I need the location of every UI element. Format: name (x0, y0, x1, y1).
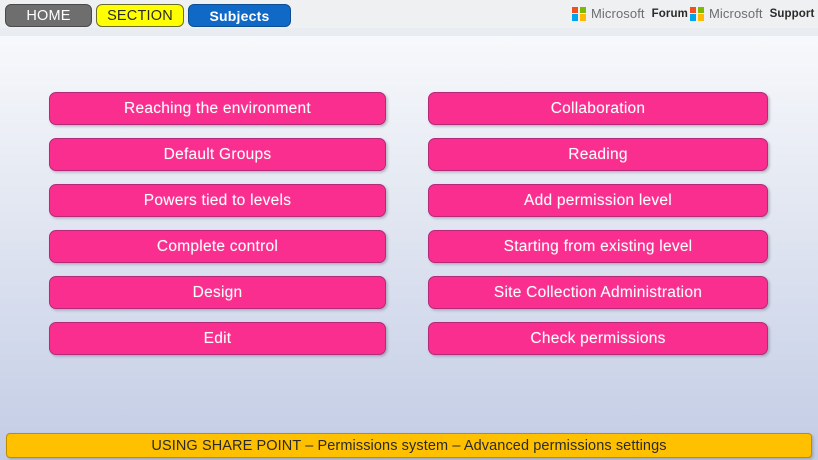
slide-canvas: HOME SECTION Subjects Microsoft Forum Mi… (0, 0, 818, 460)
microsoft-support-wordmark: Microsoft (709, 6, 763, 21)
topic-button-check-permissions[interactable]: Check permissions (428, 322, 768, 355)
microsoft-forum-subtitle: Forum (652, 8, 688, 20)
topic-button-powers-tied-to-levels[interactable]: Powers tied to levels (49, 184, 386, 217)
topic-button-label: Collaboration (551, 100, 646, 118)
topic-button-label: Site Collection Administration (494, 284, 702, 302)
topic-button-edit[interactable]: Edit (49, 322, 386, 355)
nav-tab-subjects-label: Subjects (210, 8, 270, 24)
footer-title-banner: USING SHARE POINT – Permissions system –… (6, 433, 812, 458)
nav-tab-subjects[interactable]: Subjects (188, 4, 291, 27)
nav-tab-home-label: HOME (26, 8, 70, 24)
topic-button-label: Default Groups (164, 146, 272, 164)
microsoft-logo-icon (690, 7, 704, 21)
topic-column-left: Reaching the environment Default Groups … (49, 92, 386, 368)
microsoft-support-link[interactable]: Microsoft Support (690, 6, 814, 21)
topic-button-label: Reading (568, 146, 628, 164)
topic-button-design[interactable]: Design (49, 276, 386, 309)
microsoft-forum-wordmark: Microsoft (591, 6, 645, 21)
topic-button-reading[interactable]: Reading (428, 138, 768, 171)
topic-button-label: Complete control (157, 238, 278, 256)
topic-button-label: Starting from existing level (504, 238, 693, 256)
microsoft-logo-square-yellow (698, 14, 704, 20)
microsoft-logo-square-blue (572, 14, 578, 20)
topic-button-collaboration[interactable]: Collaboration (428, 92, 768, 125)
topic-button-add-permission-level[interactable]: Add permission level (428, 184, 768, 217)
topic-button-label: Powers tied to levels (144, 192, 291, 210)
microsoft-logo-square-yellow (580, 14, 586, 20)
nav-tab-section-label: SECTION (107, 8, 173, 24)
topic-button-label: Check permissions (530, 330, 665, 348)
microsoft-logo-icon (572, 7, 586, 21)
microsoft-logo-square-green (580, 7, 586, 13)
microsoft-logo-square-red (690, 7, 696, 13)
topic-button-label: Reaching the environment (124, 100, 311, 118)
microsoft-forum-link[interactable]: Microsoft Forum (572, 6, 688, 21)
topic-button-starting-from-existing-level[interactable]: Starting from existing level (428, 230, 768, 263)
topic-button-site-collection-administration[interactable]: Site Collection Administration (428, 276, 768, 309)
topic-column-right: Collaboration Reading Add permission lev… (428, 92, 768, 368)
microsoft-logo-square-red (572, 7, 578, 13)
topic-button-label: Edit (204, 330, 232, 348)
footer-title-text: USING SHARE POINT – Permissions system –… (151, 438, 666, 454)
topic-button-label: Add permission level (524, 192, 672, 210)
topic-button-label: Design (193, 284, 243, 302)
topic-button-default-groups[interactable]: Default Groups (49, 138, 386, 171)
microsoft-logo-square-green (698, 7, 704, 13)
nav-tab-home[interactable]: HOME (5, 4, 92, 27)
topic-button-reaching-the-environment[interactable]: Reaching the environment (49, 92, 386, 125)
topic-button-complete-control[interactable]: Complete control (49, 230, 386, 263)
nav-tab-section[interactable]: SECTION (96, 4, 184, 27)
microsoft-logo-square-blue (690, 14, 696, 20)
header-bar-shade (0, 28, 818, 36)
microsoft-support-subtitle: Support (770, 8, 815, 20)
